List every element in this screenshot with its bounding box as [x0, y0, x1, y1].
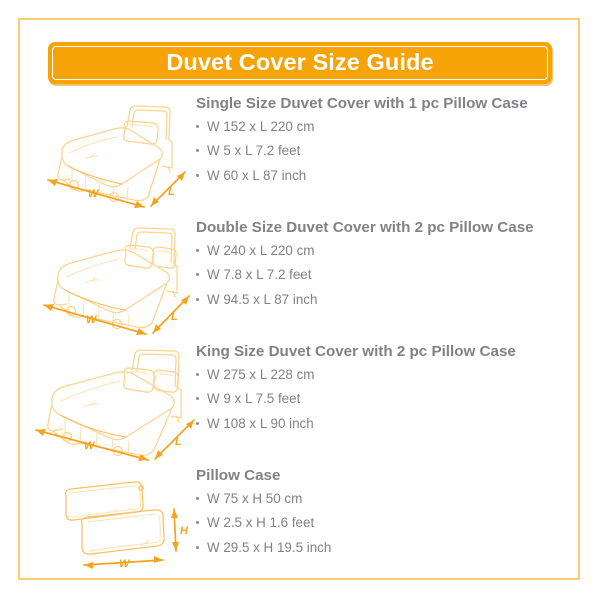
spec-item: W 7.8 x L 7.2 feet — [196, 268, 582, 281]
spec-item: W 152 x L 220 cm — [196, 120, 582, 133]
bed-pillow — [124, 121, 158, 144]
size-row-pillow-case: W H Pillow Case W 75 x H 50 cm W 2.5 x H… — [22, 468, 578, 588]
length-dimension-arrow: L — [153, 296, 189, 333]
width-dimension-arrow: W — [84, 556, 163, 570]
spec-item: W 240 x L 220 cm — [196, 244, 582, 257]
size-text-block: Double Size Duvet Cover with 2 pc Pillow… — [196, 220, 582, 317]
section-heading: Double Size Duvet Cover with 2 pc Pillow… — [196, 220, 582, 237]
size-guide-page: Duvet Cover Size Guide — [0, 0, 600, 600]
spec-item: W 5 x L 7.2 feet — [196, 144, 582, 157]
spec-list: W 240 x L 220 cm W 7.8 x L 7.2 feet W 94… — [196, 244, 582, 306]
length-dimension-arrow: L — [151, 172, 185, 206]
bed-headboard — [132, 350, 181, 418]
pillow-front — [82, 510, 165, 554]
section-heading: King Size Duvet Cover with 2 pc Pillow C… — [196, 344, 582, 361]
single-bed-illustration: W L — [22, 96, 200, 214]
spec-item: W 9 x L 7.5 feet — [196, 392, 582, 405]
section-heading: Single Size Duvet Cover with 1 pc Pillow… — [196, 96, 582, 113]
bed-headboard — [124, 106, 172, 168]
bed-pillows — [124, 368, 178, 392]
spec-list: W 275 x L 228 cm W 9 x L 7.5 feet W 108 … — [196, 368, 582, 430]
title-banner: Duvet Cover Size Guide — [48, 42, 552, 84]
section-heading: Pillow Case — [196, 468, 582, 485]
size-row-single: W L Single Size Duvet Cover with 1 pc Pi… — [22, 96, 578, 216]
duvet-top — [52, 372, 174, 440]
width-dimension-arrow: W — [44, 304, 146, 335]
king-bed-illustration: W L — [22, 344, 200, 462]
spec-item: W 108 x L 90 inch — [196, 417, 582, 430]
pillow-case-illustration: W H — [22, 468, 200, 586]
width-label: W — [84, 440, 96, 452]
size-row-double: W L Double Size Duvet Cover with 2 pc Pi… — [22, 220, 578, 340]
spec-item: W 29.5 x H 19.5 inch — [196, 541, 582, 554]
duvet-top — [62, 128, 163, 187]
spec-list: W 152 x L 220 cm W 5 x L 7.2 feet W 60 x… — [196, 120, 582, 182]
spec-item: W 60 x L 87 inch — [196, 169, 582, 182]
height-label: H — [180, 525, 189, 537]
spec-item: W 2.5 x H 1.6 feet — [196, 516, 582, 529]
pillow-back — [66, 482, 144, 520]
size-text-block: Single Size Duvet Cover with 1 pc Pillow… — [196, 96, 582, 193]
duvet-skirt — [58, 156, 160, 201]
title-banner-inner-stroke: Duvet Cover Size Guide — [52, 46, 548, 80]
width-label: W — [119, 558, 131, 570]
size-text-block: Pillow Case W 75 x H 50 cm W 2.5 x H 1.6… — [196, 468, 582, 565]
size-text-block: King Size Duvet Cover with 2 pc Pillow C… — [196, 344, 582, 441]
width-label: W — [88, 188, 100, 200]
spec-list: W 75 x H 50 cm W 2.5 x H 1.6 feet W 29.5… — [196, 492, 582, 554]
double-bed-illustration: W L — [22, 220, 200, 338]
length-dimension-arrow: L — [155, 420, 194, 459]
bed-pillows — [125, 245, 176, 268]
size-row-king: W L King Size Duvet Cover with 2 pc Pill… — [22, 344, 578, 464]
width-dimension-arrow: W — [48, 179, 144, 208]
spec-item: W 75 x H 50 cm — [196, 492, 582, 505]
length-label: L — [168, 186, 175, 198]
page-title: Duvet Cover Size Guide — [166, 51, 433, 75]
duvet-skirt — [54, 280, 167, 328]
spec-item: W 94.5 x L 87 inch — [196, 293, 582, 306]
length-label: L — [175, 436, 182, 448]
spec-item: W 275 x L 228 cm — [196, 368, 582, 381]
length-label: L — [171, 311, 178, 323]
duvet-skirt — [48, 404, 172, 455]
height-dimension-arrow: H — [171, 509, 189, 551]
width-label: W — [86, 314, 98, 326]
